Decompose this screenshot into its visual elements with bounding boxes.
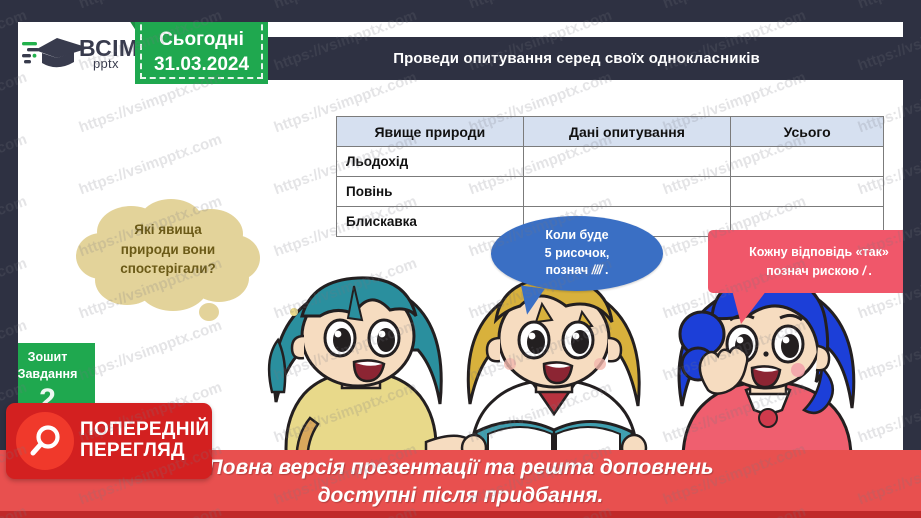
cell-survey[interactable] — [523, 147, 731, 177]
red-callout-tail — [732, 290, 767, 324]
girl-teal-hair — [269, 278, 471, 477]
red-line-1: Кожну відповідь «так» — [749, 243, 889, 262]
logo-sub-text: pptx — [93, 58, 139, 70]
magnifier-icon — [16, 412, 74, 470]
preview-line-2: ПЕРЕГЛЯД — [80, 441, 209, 462]
blue-line-3-before: познач — [545, 263, 591, 277]
today-date: 31.03.2024 — [154, 52, 249, 78]
blue-line-2: 5 рисочок, — [545, 245, 610, 263]
cell-phenomenon: Повінь — [337, 177, 524, 207]
banner-line-2: доступні після придбання. — [208, 482, 714, 509]
today-label: Сьогодні — [159, 27, 244, 53]
cell-survey[interactable] — [523, 177, 731, 207]
thought-line-3: спостерігали? — [73, 259, 263, 279]
thought-bubble: Які явища природи вони спостерігали? — [73, 198, 263, 308]
three-children-illustration — [258, 272, 903, 477]
preview-badge: ПОПЕРЕДНІЙ ПЕРЕГЛЯД — [6, 403, 212, 479]
cell-phenomenon: Льодохід — [337, 147, 524, 177]
table-row: Повінь — [337, 177, 884, 207]
table-col-total: Усього — [731, 117, 884, 147]
red-callout-text: Кожну відповідь «так» познач рискою / . — [749, 243, 889, 281]
cell-total[interactable] — [731, 147, 884, 177]
today-date-badge: Сьогодні 31.03.2024 — [135, 22, 268, 84]
page-title: Проведи опитування серед своїх однокласн… — [393, 50, 760, 67]
purchase-notice-text: Повна версія презентації та решта доповн… — [208, 454, 714, 514]
blue-callout-tail — [517, 285, 545, 316]
slide-header-bar: Проведи опитування серед своїх однокласн… — [250, 37, 903, 80]
blue-line-3: познач //// . — [545, 262, 610, 280]
banner-line-1: Повна версія презентації та решта доповн… — [208, 454, 714, 481]
graduation-cap-icon — [22, 34, 76, 74]
blue-callout-text: Коли буде 5 рисочок, познач //// . — [545, 227, 610, 280]
thought-line-2: природи вони — [73, 240, 263, 260]
table-header-row: Явище природи Дані опитування Усього — [337, 117, 884, 147]
notebook-label-1: Зошит — [18, 349, 95, 366]
red-line-2-before: познач рискою — [766, 264, 862, 278]
thought-bubble-text: Які явища природи вони спостерігали? — [73, 220, 263, 279]
red-line-2-after: . — [865, 264, 872, 278]
thought-line-1: Які явища — [73, 220, 263, 240]
red-callout-bubble: Кожну відповідь «так» познач рискою / . — [708, 230, 903, 293]
blue-callout-bubble: Коли буде 5 рисочок, познач //// . — [491, 216, 663, 291]
notebook-label-2: Завдання — [18, 366, 95, 383]
cell-phenomenon: Блискавка — [337, 207, 524, 237]
table-row: Льодохід — [337, 147, 884, 177]
table-col-phenomenon: Явище природи — [337, 117, 524, 147]
red-line-2: познач рискою / . — [749, 262, 889, 281]
tally-mark-glyph: //// — [592, 263, 602, 277]
blue-line-1: Коли буде — [545, 227, 610, 245]
table-col-survey-data: Дані опитування — [523, 117, 731, 147]
preview-badge-text: ПОПЕРЕДНІЙ ПЕРЕГЛЯД — [80, 420, 209, 461]
boy-blond-hair-with-book — [462, 278, 646, 477]
blue-line-3-after: . — [602, 263, 609, 277]
cell-total[interactable] — [731, 177, 884, 207]
preview-line-1: ПОПЕРЕДНІЙ — [80, 420, 209, 441]
